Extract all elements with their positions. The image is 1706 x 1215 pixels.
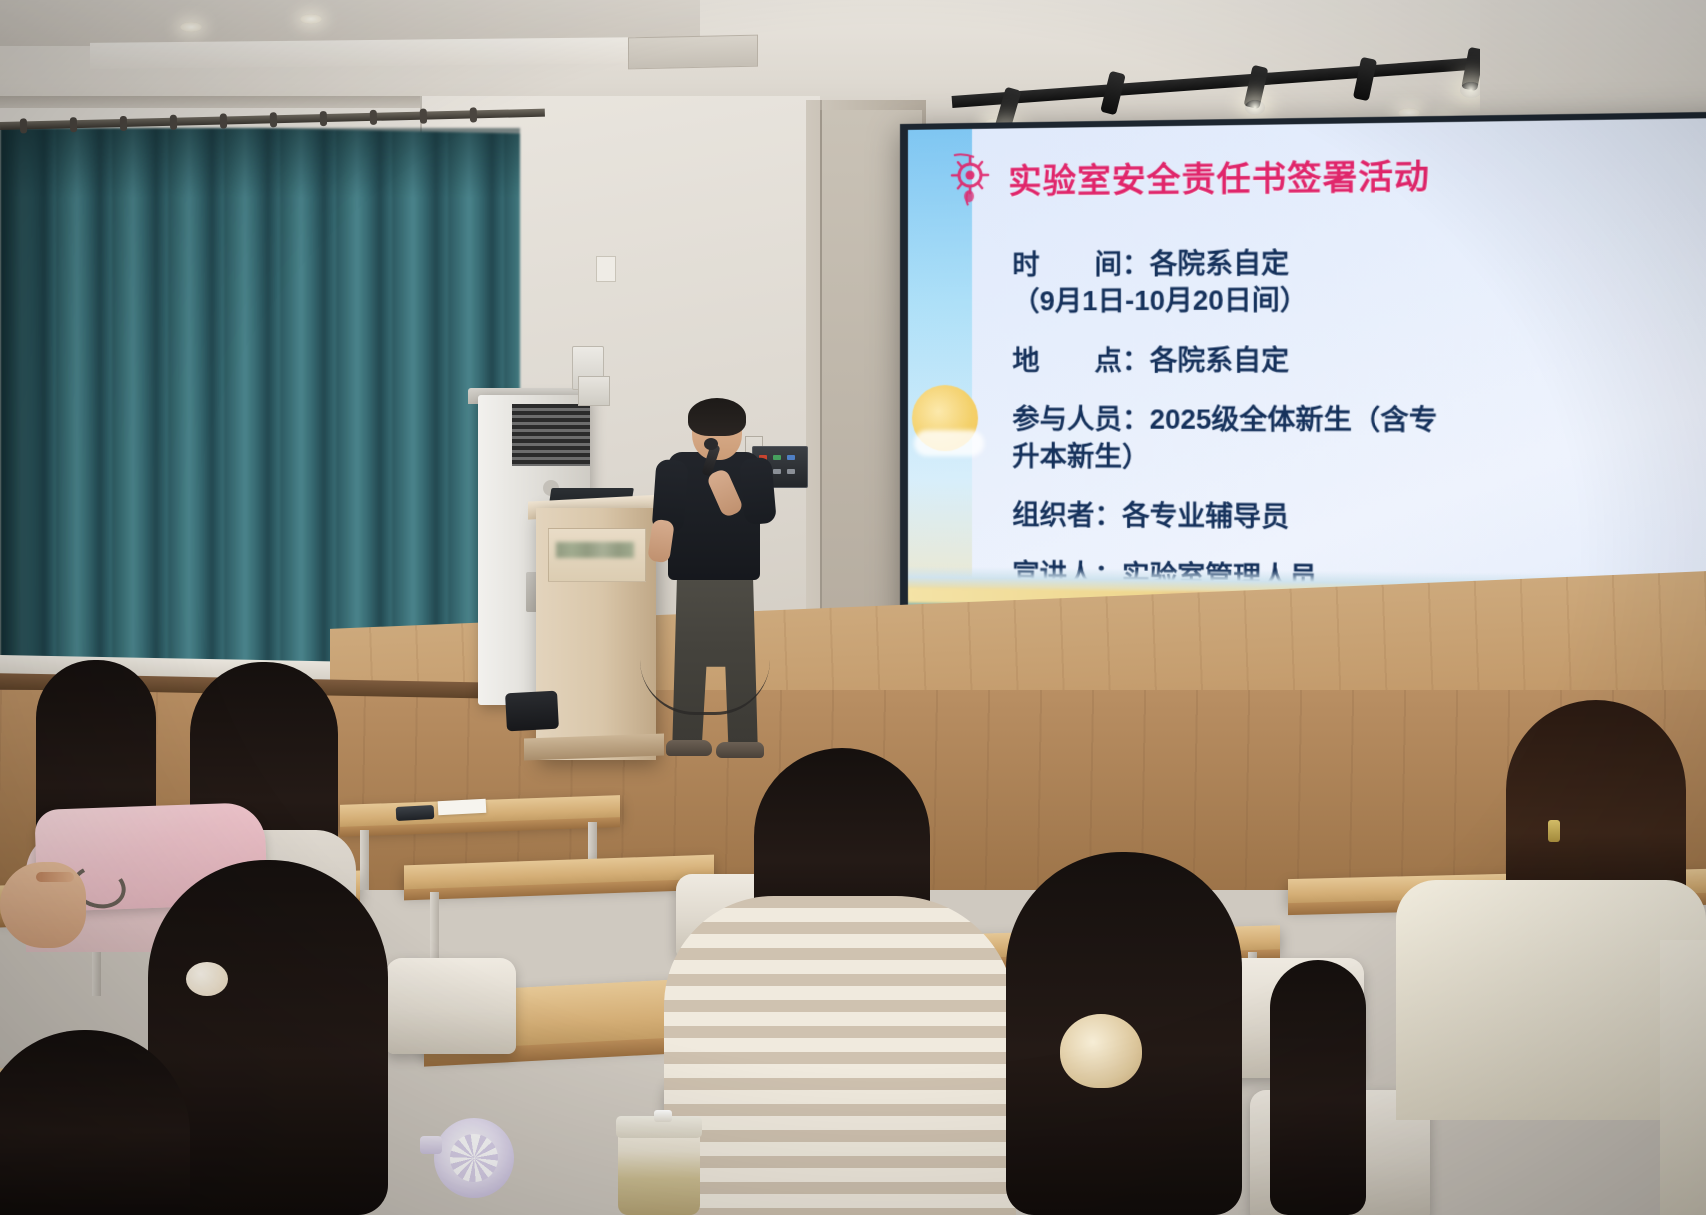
slide-label-time: 时 间： bbox=[1012, 249, 1149, 280]
slide-decoration-cloud bbox=[914, 430, 984, 456]
wall-sensor-icon bbox=[578, 376, 610, 406]
audience-body bbox=[664, 896, 1016, 1215]
hair-ornament-icon bbox=[1060, 1014, 1142, 1088]
downlight-icon bbox=[300, 14, 322, 24]
slide-label-organizer: 组织者： bbox=[1012, 500, 1122, 531]
slide-value-time: 各院系自定 bbox=[1150, 248, 1290, 279]
curtain-top-shade bbox=[0, 128, 520, 198]
fan-handle bbox=[420, 1136, 442, 1154]
curtain-fabric bbox=[0, 128, 520, 688]
audience-hair bbox=[1270, 960, 1366, 1215]
slide-body: 时 间：各院系自定 （9月1日-10月20日间） 地 点：各院系自定 参与人员：… bbox=[1012, 242, 1683, 624]
presenter-shoe-right bbox=[716, 742, 764, 758]
curtain-shadow bbox=[0, 128, 60, 688]
lectern-emblem-icon bbox=[556, 542, 634, 558]
fan-blades-icon bbox=[450, 1134, 498, 1182]
slide-line-time: 时 间：各院系自定 （9月1日-10月20日间） bbox=[1012, 242, 1683, 320]
paper-sheet bbox=[438, 799, 487, 815]
far-right-wall bbox=[1480, 0, 1706, 120]
spotlight-glow bbox=[1245, 100, 1265, 115]
slide-label-participants: 参与人员： bbox=[1012, 404, 1149, 435]
table-leg bbox=[430, 892, 439, 962]
slide-value-organizer: 各专业辅导员 bbox=[1122, 501, 1289, 533]
hair-clip-icon bbox=[1548, 820, 1560, 842]
spotlight-glow bbox=[1460, 82, 1482, 98]
presenter-hair bbox=[688, 398, 746, 436]
projection-screen-frame: 实验室安全责任书签署活动 时 间：各院系自定 （9月1日-10月20日间） 地 … bbox=[900, 111, 1706, 646]
projection-screen: 实验室安全责任书签署活动 时 间：各院系自定 （9月1日-10月20日间） 地 … bbox=[908, 118, 1706, 640]
table-leg bbox=[360, 830, 369, 890]
slide-line-organizer: 组织者：各专业辅导员 bbox=[1012, 497, 1683, 540]
bracelet-icon bbox=[36, 872, 74, 882]
slide-value-participants: 2025级全体新生（含专 bbox=[1150, 405, 1438, 436]
microphone-head-icon bbox=[704, 438, 718, 450]
slide-line-place: 地 点：各院系自定 bbox=[1012, 341, 1683, 379]
ceiling-vent-icon bbox=[628, 35, 758, 70]
backpack-icon bbox=[505, 691, 559, 732]
ac-vent-grille-icon bbox=[512, 404, 590, 466]
chrysanthemum-icon bbox=[944, 151, 1000, 208]
wall-seam bbox=[820, 100, 822, 660]
smartphone-icon bbox=[396, 805, 435, 821]
downlight-icon bbox=[180, 22, 202, 32]
hair-scrunchie-icon bbox=[186, 962, 228, 996]
slide-title: 实验室安全责任书签署活动 bbox=[1008, 149, 1430, 203]
bottle-latch-icon bbox=[654, 1110, 672, 1122]
slide-label-place: 地 点： bbox=[1012, 345, 1149, 375]
window-curtains bbox=[0, 128, 520, 688]
slide-line-participants: 参与人员：2025级全体新生（含专 升本新生） bbox=[1012, 401, 1683, 478]
presenter-sleeve-right bbox=[739, 457, 777, 526]
audience-body bbox=[1660, 940, 1706, 1215]
chair bbox=[386, 958, 516, 1054]
slide-sub-time: （9月1日-10月20日间） bbox=[1012, 280, 1683, 320]
slide-value-place: 各院系自定 bbox=[1150, 345, 1290, 376]
photo-scene: 实验室安全责任书签署活动 时 间：各院系自定 （9月1日-10月20日间） 地 … bbox=[0, 0, 1706, 1215]
wall-switch-icon[interactable] bbox=[596, 256, 616, 282]
presenter-shoe-left bbox=[666, 740, 712, 756]
slide-sub-participants: 升本新生） bbox=[1012, 438, 1683, 478]
